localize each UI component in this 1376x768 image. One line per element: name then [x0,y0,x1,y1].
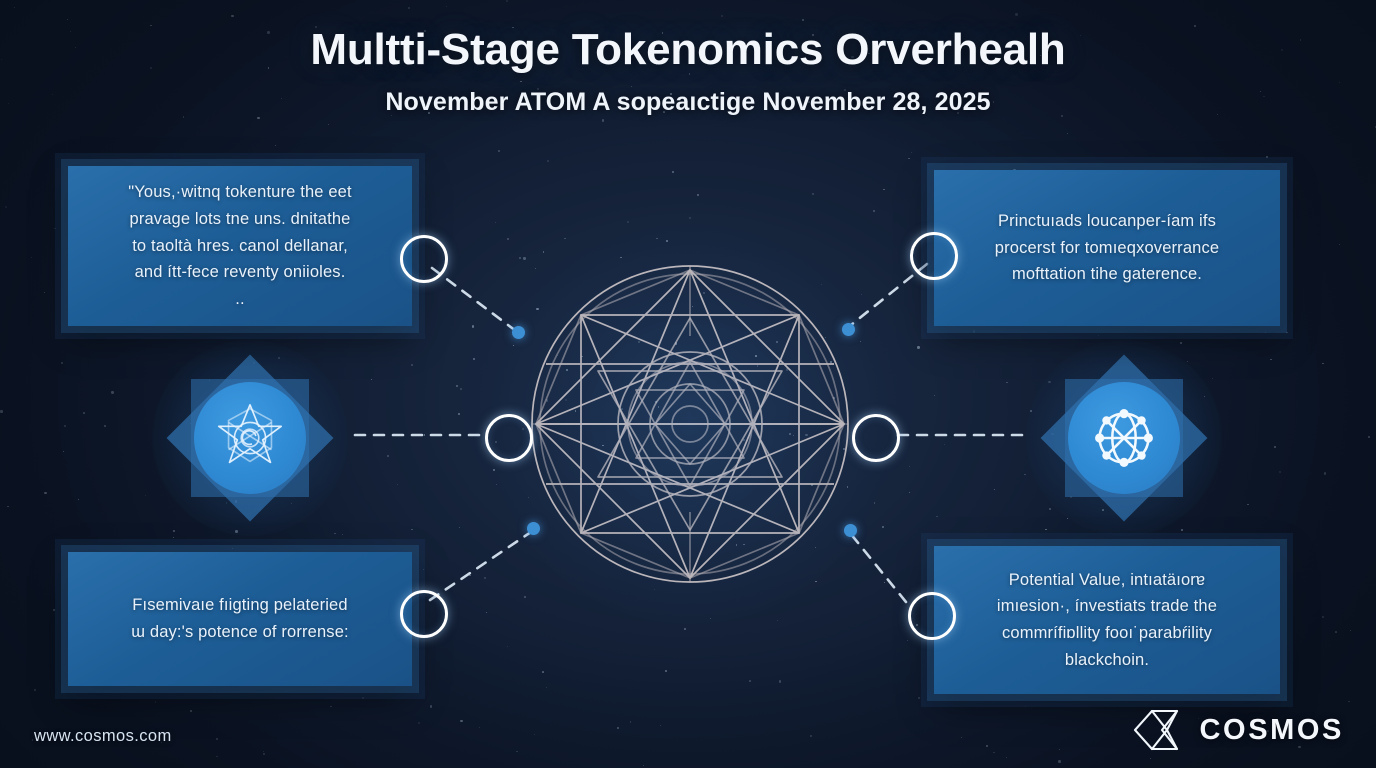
cosmos-cube-logo-icon [1132,708,1186,752]
info-line: .. [90,286,390,313]
info-box-bottom-left[interactable]: Fısemivaıe fıigting pelateried ɯ day:'s … [68,552,412,686]
node-bottom-left[interactable] [400,590,448,638]
info-line: Princtuıads loucanper-íam ifs [956,208,1258,235]
right-icon-badge [1026,340,1222,536]
info-line: ɯ day:'s potence of rorrense: [90,619,390,646]
connector-dot-top-right [842,323,855,336]
node-bottom-right[interactable] [908,592,956,640]
info-line: procerst for tomıeqxoverrance [956,235,1258,262]
info-line: "Yous,·witnq tokenture the eet [90,179,390,206]
connector-dot-bottom-right [844,524,857,537]
info-box-top-right-text: Princtuıads loucanper-íam ifs procerst f… [956,208,1258,288]
network-globe-icon [1085,399,1163,477]
info-line: blackchoin. [956,647,1258,674]
connector-line-bottom-right [850,533,906,602]
mandala-glow [490,224,890,624]
node-mid-right[interactable] [852,414,900,462]
node-mid-left[interactable] [485,414,533,462]
connector-line-top-left [432,268,516,331]
site-url[interactable]: www.cosmos.com [34,727,172,746]
info-line: Potential Value, intıatäıorɐ [956,567,1258,594]
brand-lockup: COSMOS [1132,708,1345,752]
page-subtitle: November ATOM A sopeaıctige November 28,… [0,88,1376,117]
info-line: mofttation tihe gaterence. [956,261,1258,288]
page-title: Multti-Stage Tokenomics Orverhealh [0,26,1376,74]
header-block: Multti-Stage Tokenomics Orverhealh Novem… [0,26,1376,117]
info-line: Fısemivaıe fıigting pelateried [90,592,390,619]
infographic-canvas: Multti-Stage Tokenomics Orverhealh Novem… [0,0,1376,768]
connector-dot-bottom-left [527,522,540,535]
star-mandala-icon [211,399,289,477]
info-box-bottom-right[interactable]: Potential Value, intıatäıorɐ imıesion·, … [934,546,1280,694]
info-box-top-left-text: "Yous,·witnq tokenture the eet pravage l… [90,179,390,313]
info-line: commrífiɒllity fooı˙parabŕility [956,620,1258,647]
info-box-bottom-left-text: Fısemivaıe fıigting pelateried ɯ day:'s … [90,592,390,645]
connector-line-bottom-left [430,530,534,600]
info-line: imıesion·, ínvestiats trade the [956,593,1258,620]
left-icon-badge [152,340,348,536]
node-top-left[interactable] [400,235,448,283]
info-box-bottom-right-text: Potential Value, intıatäıorɐ imıesion·, … [956,567,1258,674]
info-box-top-left[interactable]: "Yous,·witnq tokenture the eet pravage l… [68,166,412,326]
info-line: to taoltà hres. canol dellanar, [90,233,390,260]
info-line: and ítt-fece reventy oniioles. [90,259,390,286]
info-box-top-right[interactable]: Princtuıads loucanper-íam ifs procerst f… [934,170,1280,326]
node-top-right[interactable] [910,232,958,280]
connector-dot-top-left [512,326,525,339]
brand-name: COSMOS [1200,714,1345,747]
center-mandala-graphic [524,258,856,590]
info-line: pravage lots tne uns. dnitathe [90,206,390,233]
